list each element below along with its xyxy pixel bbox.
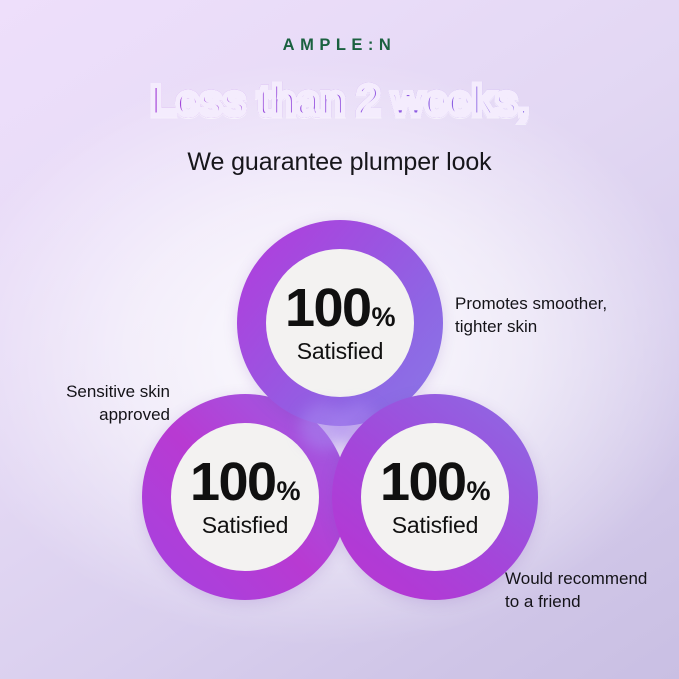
stat-inner-disc: 100 % Satisfied xyxy=(266,249,414,397)
stat-label: Satisfied xyxy=(392,512,478,539)
caption-promotes-smoother-tighter-skin: Promotes smoother, tighter skin xyxy=(455,293,607,339)
page-title: Less than 2 weeks, xyxy=(0,79,679,124)
stat-label: Satisfied xyxy=(202,512,288,539)
brand-logo: AMPLE:N xyxy=(0,36,679,55)
stat-value-group: 100 % xyxy=(380,455,490,509)
stat-circle-promotes-smoother-tighter-skin: 100 % Satisfied xyxy=(237,220,443,426)
stat-inner-disc: 100 % Satisfied xyxy=(171,423,319,571)
stat-value-group: 100 % xyxy=(285,281,395,335)
stat-percent-symbol: % xyxy=(277,478,301,505)
caption-sensitive-skin-approved: Sensitive skin approved xyxy=(20,381,170,427)
stat-percent-symbol: % xyxy=(372,304,396,331)
stat-label: Satisfied xyxy=(297,338,383,365)
promo-poster: AMPLE:N Less than 2 weeks, We guarantee … xyxy=(0,0,679,679)
stat-percent-symbol: % xyxy=(467,478,491,505)
stat-circle-sensitive-skin-approved: 100 % Satisfied xyxy=(142,394,348,600)
page-subtitle: We guarantee plumper look xyxy=(0,148,679,177)
stat-value-group: 100 % xyxy=(190,455,300,509)
caption-would-recommend-to-a-friend: Would recommend to a friend xyxy=(505,568,647,614)
stat-inner-disc: 100 % Satisfied xyxy=(361,423,509,571)
stat-value: 100 xyxy=(190,455,276,509)
stat-value: 100 xyxy=(285,281,371,335)
stat-value: 100 xyxy=(380,455,466,509)
